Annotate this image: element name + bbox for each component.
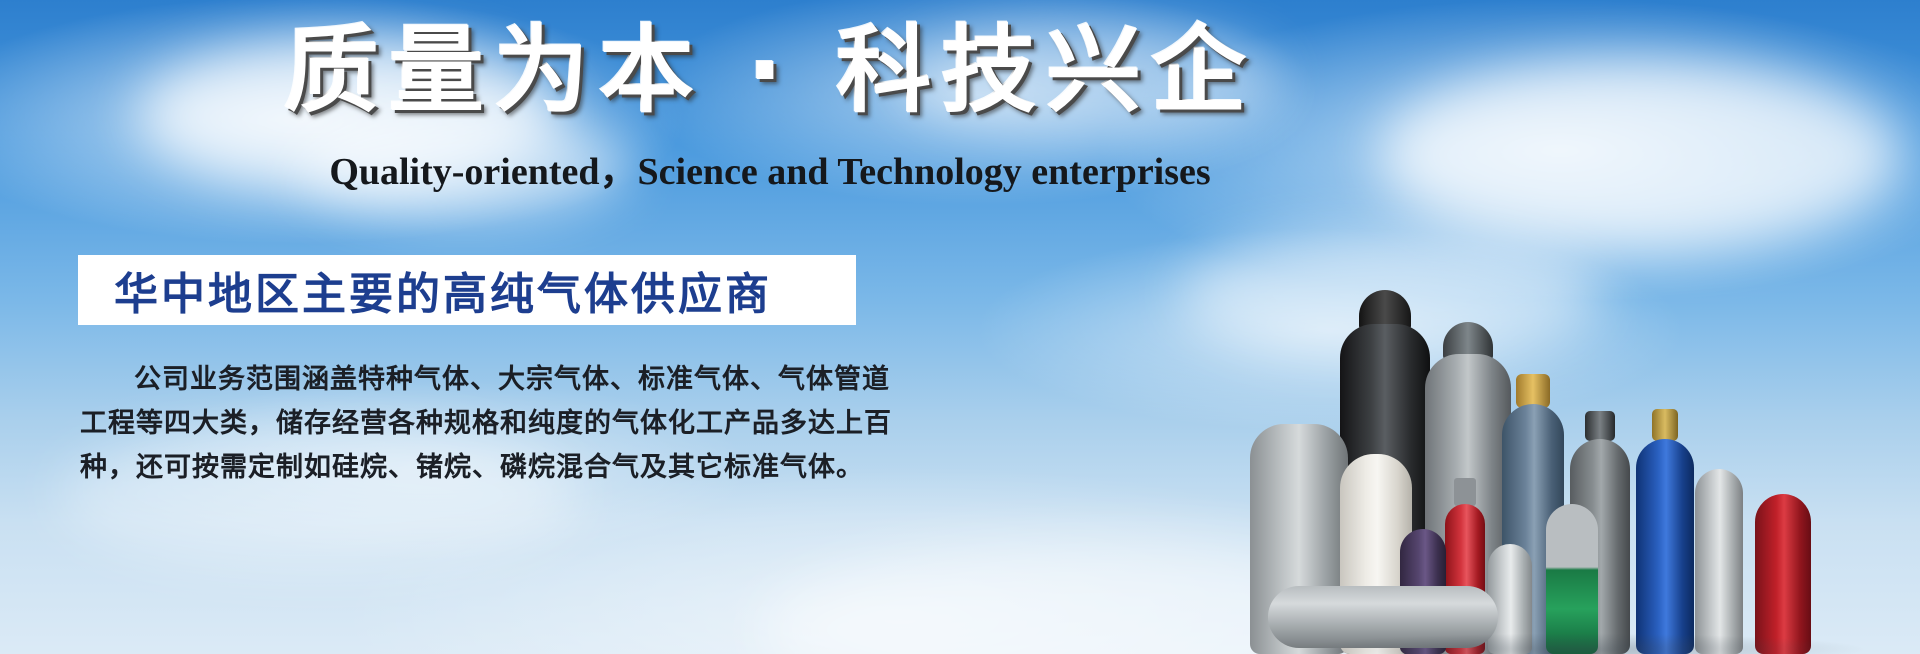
description-line: 工程等四大类，储存经营各种规格和纯度的气体化工产品多达上百 [80, 402, 870, 446]
banner-subheadline-english: Quality-oriented，Science and Technology … [0, 140, 1540, 195]
banner-description: 公司业务范围涵盖特种气体、大宗气体、标准气体、气体管道 工程等四大类，储存经营各… [80, 358, 870, 490]
hero-banner: 质量为本 · 科技兴企 Quality-oriented，Science and… [0, 0, 1920, 654]
banner-headline: 质量为本 · 科技兴企 [0, 22, 1540, 122]
description-line: 种，还可按需定制如硅烷、锗烷、磷烷混合气及其它标准气体。 [80, 446, 870, 490]
tagline-text: 华中地区主要的高纯气体供应商 [78, 258, 772, 322]
gas-cylinder-group-photo [1240, 234, 1920, 654]
tagline-box: 华中地区主要的高纯气体供应商 [78, 255, 856, 325]
description-line: 公司业务范围涵盖特种气体、大宗气体、标准气体、气体管道 [80, 358, 870, 402]
photo-shadow [1240, 608, 1920, 654]
